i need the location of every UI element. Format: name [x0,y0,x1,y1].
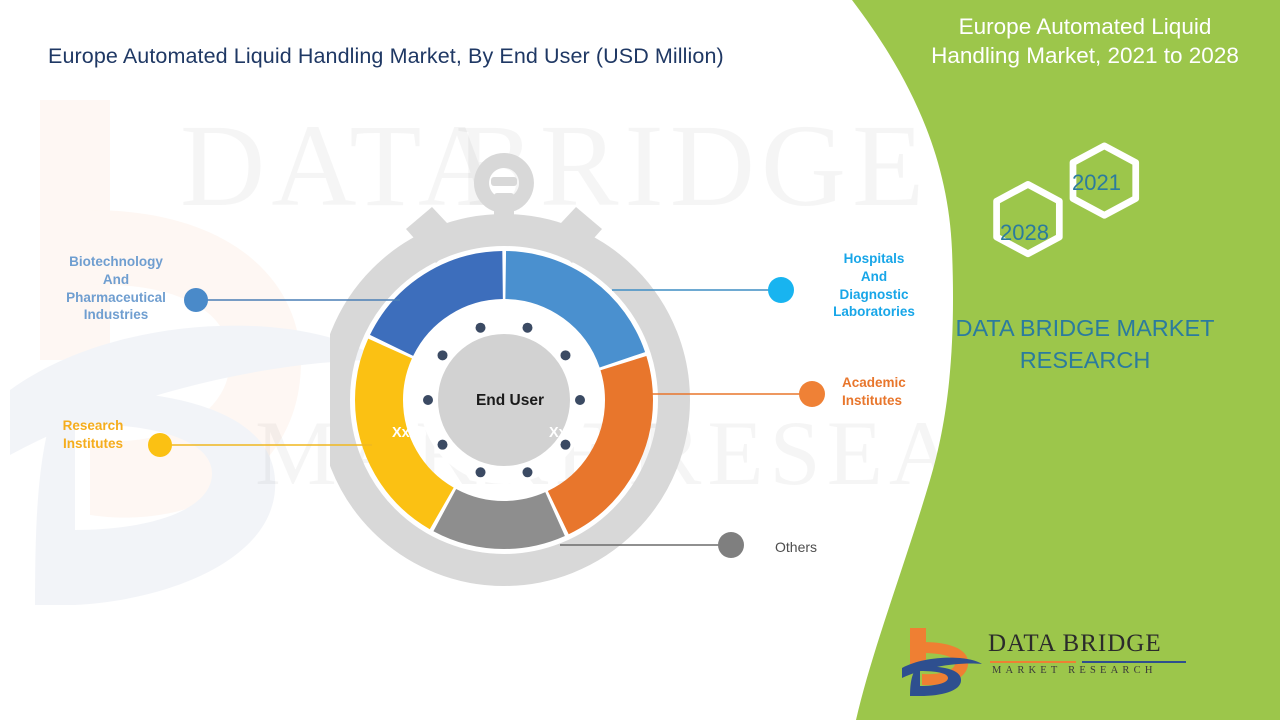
brand-name-line2: RESEARCH [900,344,1270,376]
page-title: Europe Automated Liquid Handling Market,… [48,44,724,69]
callout-biotech-line3: Pharmaceutical [40,289,192,307]
tick-dot [476,467,486,477]
hexagon-label-2021: 2021 [1072,170,1121,196]
tick-dot [522,323,532,333]
panel-heading: Europe Automated Liquid Handling Market,… [900,12,1270,70]
connector-dot-academic [799,381,825,407]
callout-others-line1: Others [775,538,885,556]
pct-label-hospitals: Xx % [549,425,584,441]
hexagon-pair [970,140,1200,270]
company-logo: DATA BRIDGE MARKET RESEARCH [900,620,1220,702]
panel-heading-line1: Europe Automated Liquid [900,12,1270,41]
panel-heading-line2: Handling Market, 2021 to 2028 [900,41,1270,70]
tick-dot [438,440,448,450]
logo-text-primary: DATA BRIDGE [988,630,1162,658]
callout-research-line2: Institutes [34,435,152,453]
pct-label-biotech: Xx % [392,425,427,441]
callout-biotech-line4: Industries [40,306,192,324]
tick-dot [438,350,448,360]
pct-label-others: Xx % [478,638,513,654]
brand-name-line1: DATA BRIDGE MARKET [900,312,1270,344]
tick-dot [560,350,570,360]
logo-text-secondary: MARKET RESEARCH [992,665,1157,676]
callout-biotech-line2: And [40,271,192,289]
pct-label-academic: Xx % [600,572,635,588]
callout-research: Research Institutes [34,417,152,453]
tick-dot [560,440,570,450]
chart-center-label: End User [330,392,690,410]
tick-dot [476,323,486,333]
donut-chart: End User Xx % Xx % Xx % Xx % Xx % [330,135,690,595]
tick-dot [522,467,532,477]
hexagon-label-2028: 2028 [1000,220,1049,246]
logo-underline [990,660,1186,664]
logo-mark-icon [900,624,984,698]
donut-chart-svg [330,135,690,595]
connector-dot-others [718,532,744,558]
infographic-canvas: DATA BRIDGE MARKET RESEARCH Europe Autom… [0,0,1280,720]
pct-label-research: Xx % [352,572,387,588]
green-panel-content: Europe Automated Liquid Handling Market,… [900,0,1280,720]
callout-research-line1: Research [34,417,152,435]
callout-others: Others [775,538,885,556]
callout-biotech-line1: Biotechnology [40,253,192,271]
callout-biotech: Biotechnology And Pharmaceutical Industr… [40,253,192,324]
brand-name: DATA BRIDGE MARKET RESEARCH [900,312,1270,376]
connector-dot-hospitals [768,277,794,303]
